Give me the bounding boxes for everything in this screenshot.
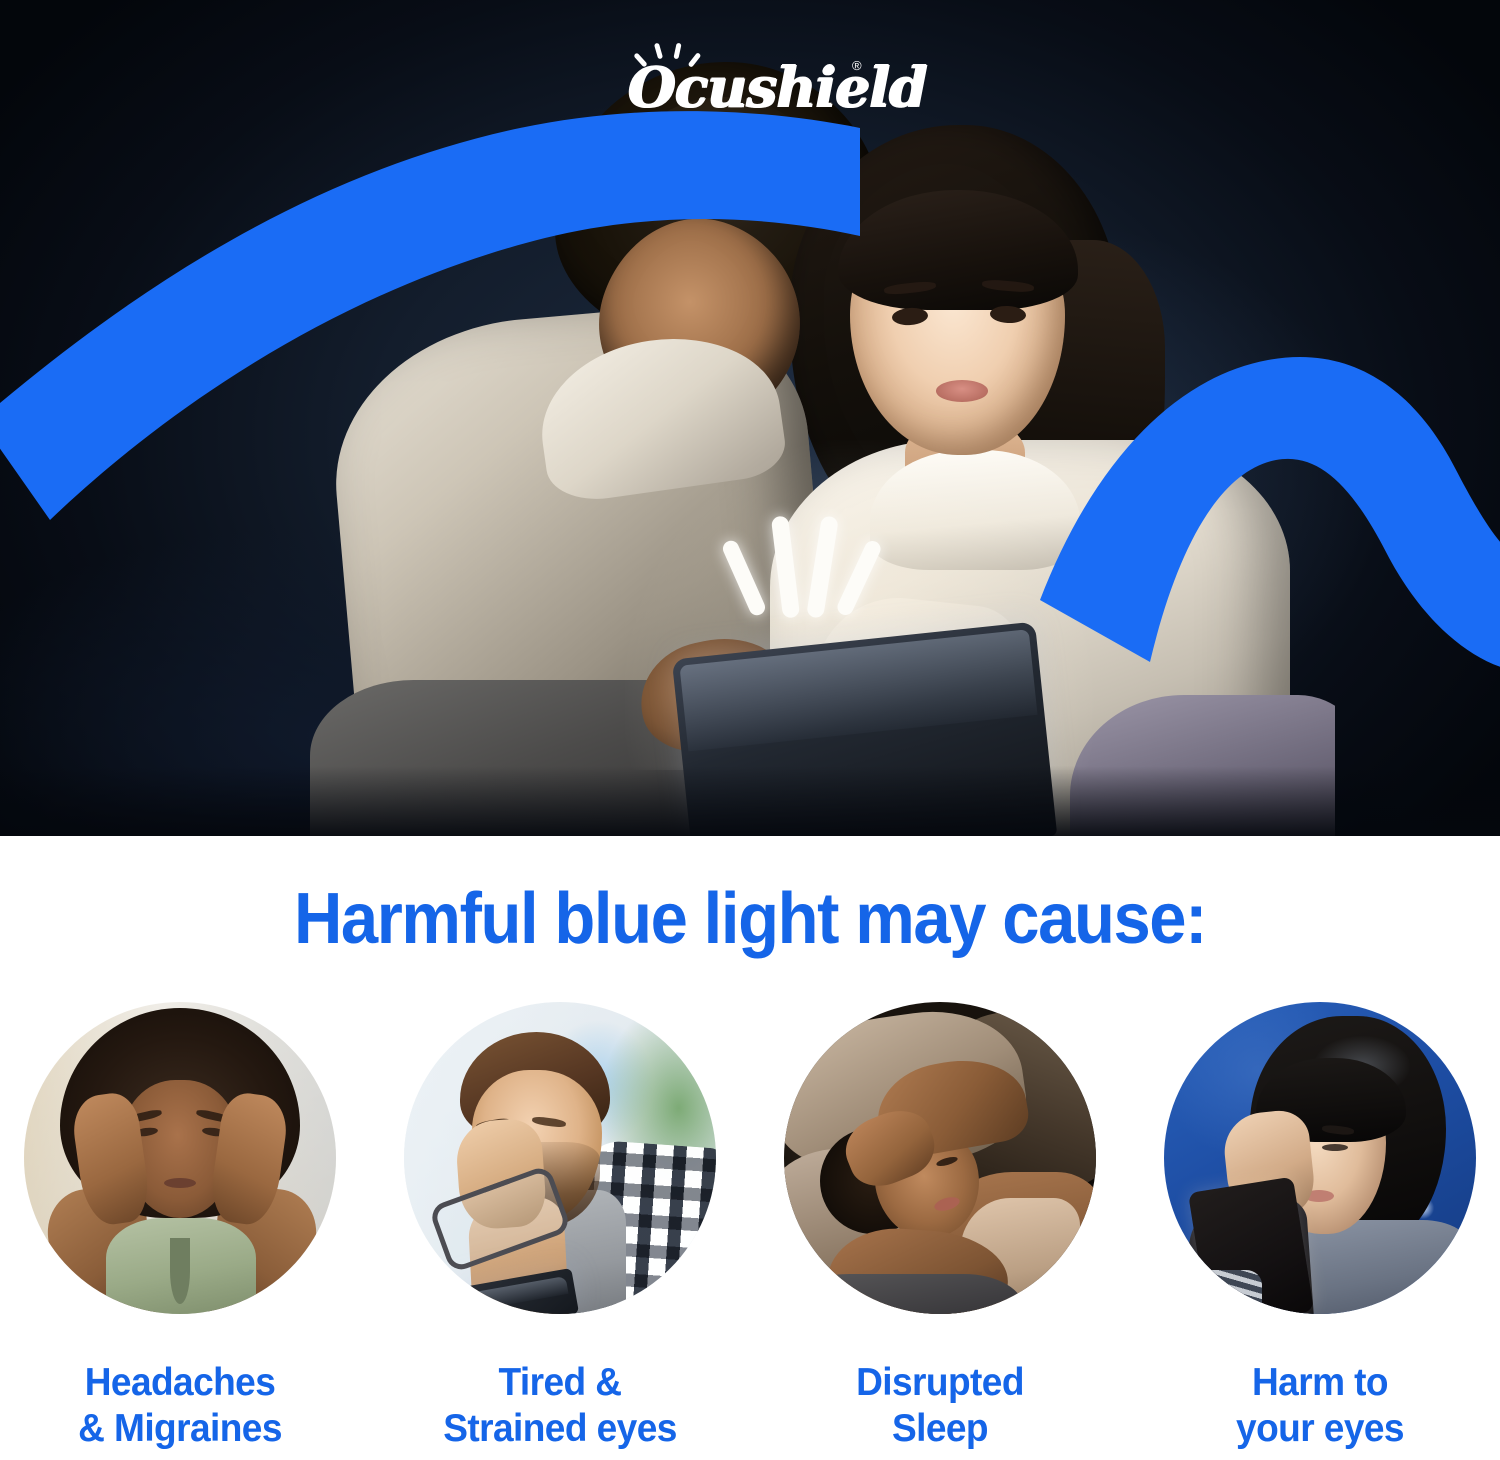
woman-with-headache-photo: [24, 1002, 336, 1314]
ocushield-blue-light-infographic: Ocushield ® Harmful blue light may cause…: [0, 0, 1500, 1460]
page-title: Harmful blue light may cause:: [53, 878, 1448, 960]
c4-striped-sleeve: [1182, 1270, 1262, 1314]
hero-section: Ocushield ®: [0, 0, 1500, 836]
c1-mouth: [164, 1178, 196, 1188]
symptom-label: Disrupted Sleep: [792, 1360, 1088, 1451]
symptom-label: Tired & Strained eyes: [412, 1360, 708, 1451]
symptom-card-harm-to-eyes: Harm to your eyes: [1164, 1002, 1476, 1451]
registered-trademark-icon: ®: [852, 58, 862, 73]
ocushield-logo[interactable]: Ocushield ®: [628, 40, 878, 116]
symptom-card-disrupted-sleep: Disrupted Sleep: [784, 1002, 1096, 1451]
man-rubbing-tired-eyes-photo: [404, 1002, 716, 1314]
blue-wave-decoration: [0, 0, 1500, 836]
c1-v-neckline: [170, 1238, 190, 1304]
symptom-card-tired-eyes: Tired & Strained eyes: [404, 1002, 716, 1451]
woman-awake-in-bed-photo: [784, 1002, 1096, 1314]
c4-eye-right: [1322, 1144, 1348, 1151]
symptoms-section: Harmful blue light may cause:: [0, 836, 1500, 1460]
symptom-card-list: Headaches & Migraines: [0, 1002, 1500, 1451]
logo-wordmark: Ocushield: [628, 54, 927, 119]
wave-right-path: [1040, 357, 1500, 672]
symptom-card-headaches: Headaches & Migraines: [24, 1002, 336, 1451]
symptom-label: Headaches & Migraines: [32, 1360, 328, 1451]
symptom-label: Harm to your eyes: [1172, 1360, 1468, 1451]
wave-left-path: [0, 111, 860, 520]
woman-with-phone-at-night-photo: [1164, 1002, 1476, 1314]
c3-blanket: [784, 1274, 1024, 1314]
